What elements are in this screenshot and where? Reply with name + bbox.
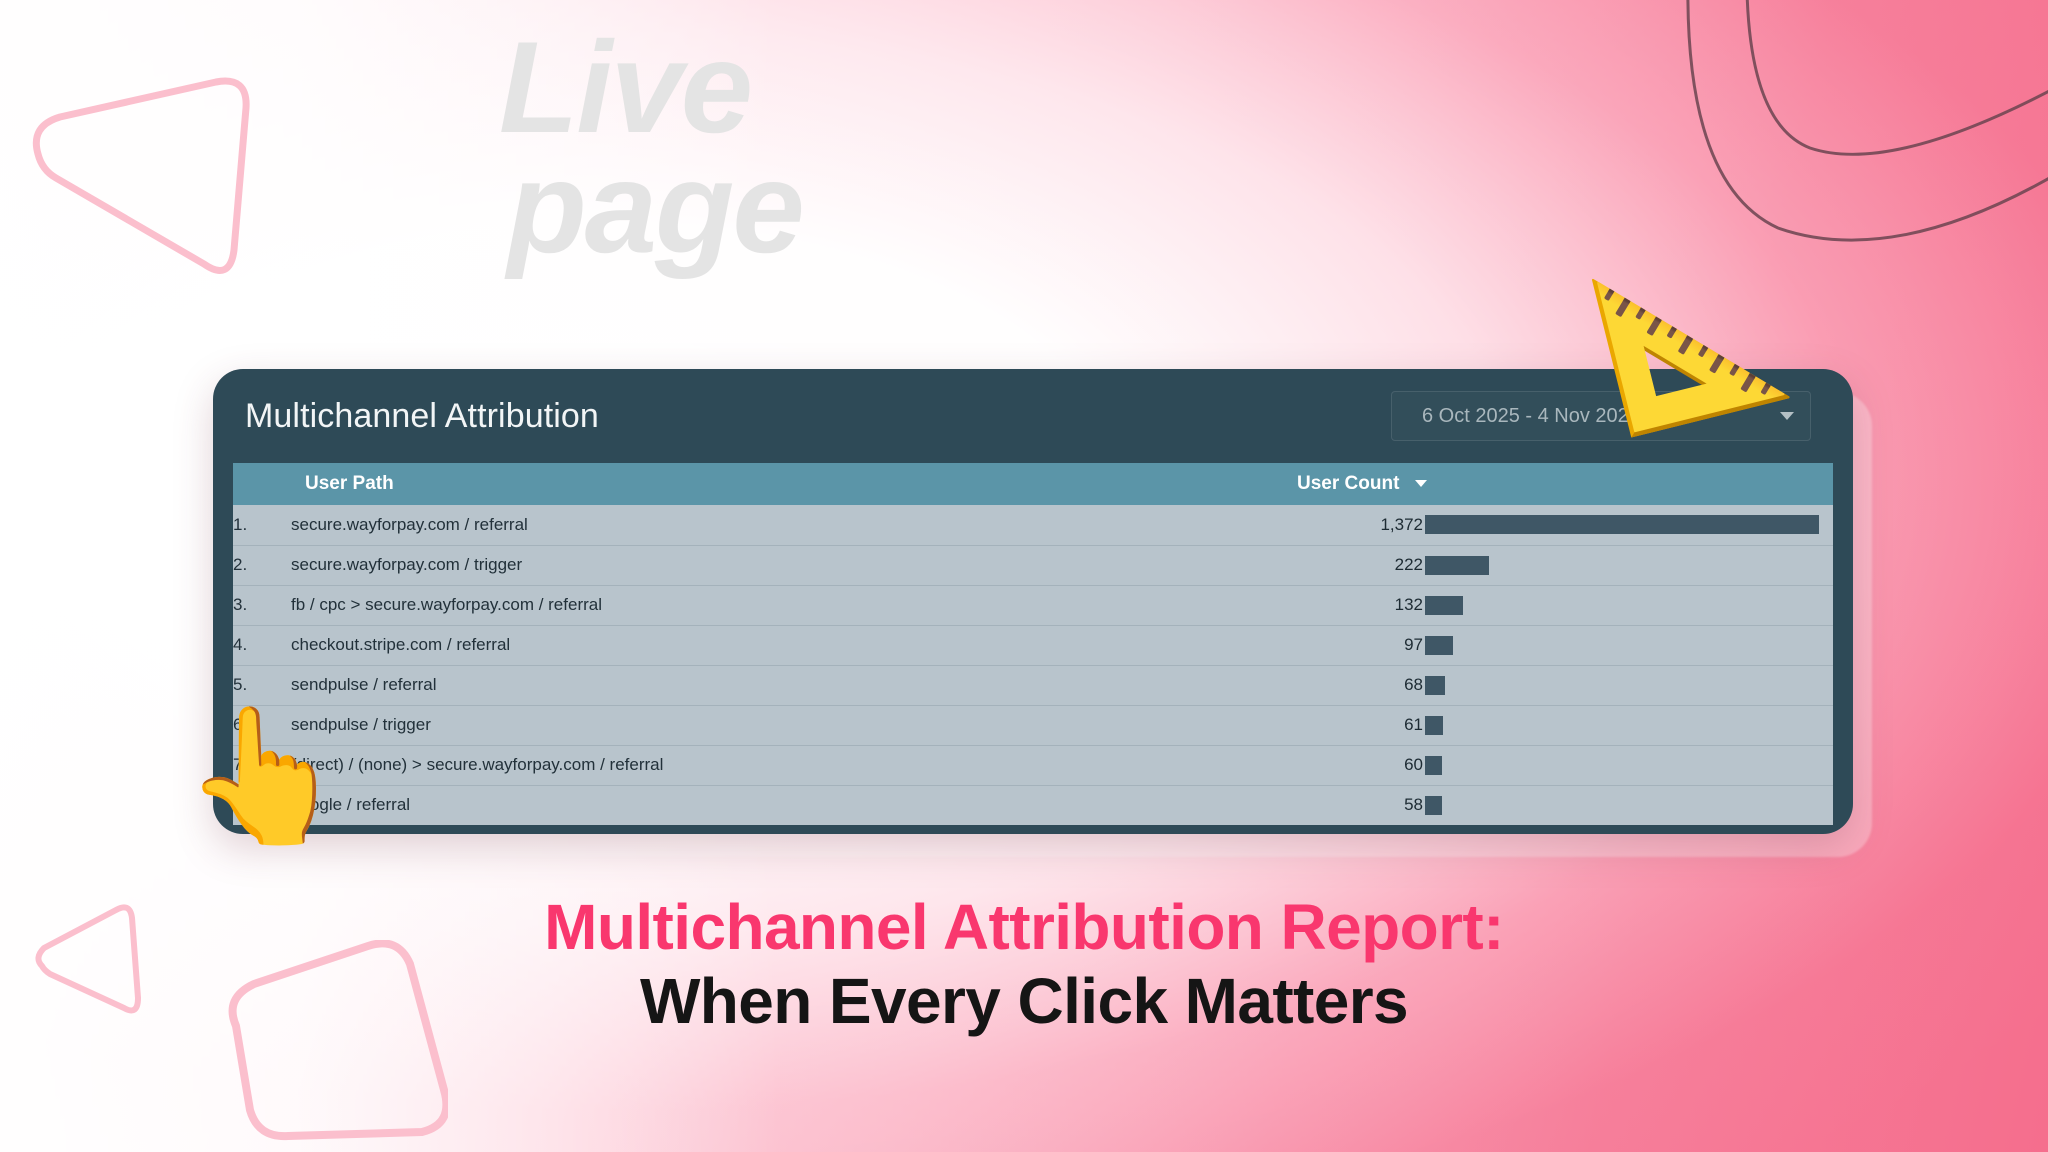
cell-rank: 5. [233, 665, 291, 705]
user-count-bar [1425, 716, 1443, 735]
attribution-table: User Path User Count 1.secure.wayforpay.… [233, 463, 1833, 825]
table-row[interactable]: 1.secure.wayforpay.com / referral1,372 [233, 505, 1833, 545]
cell-user-path: google / referral [291, 785, 1273, 825]
chevron-down-icon [1780, 412, 1794, 420]
user-count-value: 222 [1273, 555, 1425, 575]
cell-user-path: sendpulse / referral [291, 665, 1273, 705]
column-header-user-path[interactable]: User Path [291, 463, 1273, 505]
user-count-bar [1425, 676, 1445, 695]
user-count-value: 68 [1273, 675, 1425, 695]
cell-user-path: (direct) / (none) > secure.wayforpay.com… [291, 745, 1273, 785]
cell-user-count: 68 [1273, 665, 1833, 705]
user-count-bar [1425, 556, 1489, 575]
cell-user-path: checkout.stripe.com / referral [291, 625, 1273, 665]
watermark-line-2: page [0, 148, 1250, 268]
count-wrapper: 132 [1273, 595, 1833, 615]
headline-block: Multichannel Attribution Report: When Ev… [0, 890, 2048, 1038]
cell-user-count: 61 [1273, 705, 1833, 745]
cell-user-path: secure.wayforpay.com / trigger [291, 545, 1273, 585]
user-count-bar [1425, 515, 1819, 534]
table-row[interactable]: 4.checkout.stripe.com / referral97 [233, 625, 1833, 665]
user-count-value: 60 [1273, 755, 1425, 775]
headline-secondary: When Every Click Matters [0, 964, 2048, 1038]
cell-user-path: fb / cpc > secure.wayforpay.com / referr… [291, 585, 1273, 625]
count-wrapper: 97 [1273, 635, 1833, 655]
count-wrapper: 222 [1273, 555, 1833, 575]
column-header-rank [233, 463, 291, 505]
cell-rank: 4. [233, 625, 291, 665]
user-count-bar [1425, 796, 1442, 815]
user-count-value: 132 [1273, 595, 1425, 615]
user-count-value: 61 [1273, 715, 1425, 735]
column-header-user-count[interactable]: User Count [1273, 463, 1833, 505]
date-range-label: 6 Oct 2025 - 4 Nov 2025 [1422, 405, 1640, 428]
count-wrapper: 61 [1273, 715, 1833, 735]
multichannel-attribution-card: Multichannel Attribution 6 Oct 2025 - 4 … [213, 369, 1853, 834]
column-header-user-count-label: User Count [1297, 473, 1399, 494]
cell-user-count: 58 [1273, 785, 1833, 825]
table-row[interactable]: 2.secure.wayforpay.com / trigger222 [233, 545, 1833, 585]
cell-user-count: 97 [1273, 625, 1833, 665]
sort-descending-icon[interactable] [1415, 480, 1427, 487]
cell-rank: 7. [233, 745, 291, 785]
cell-user-count: 222 [1273, 545, 1833, 585]
table-header-row: User Path User Count [233, 463, 1833, 505]
table-row[interactable]: 8.google / referral58 [233, 785, 1833, 825]
cell-user-path: sendpulse / trigger [291, 705, 1273, 745]
cell-user-path: secure.wayforpay.com / referral [291, 505, 1273, 545]
count-wrapper: 68 [1273, 675, 1833, 695]
user-count-value: 97 [1273, 635, 1425, 655]
user-count-bar [1425, 636, 1453, 655]
cell-rank: 8. [233, 785, 291, 825]
user-count-value: 1,372 [1273, 515, 1425, 535]
table-row[interactable]: 7.(direct) / (none) > secure.wayforpay.c… [233, 745, 1833, 785]
table-row[interactable]: 5.sendpulse / referral68 [233, 665, 1833, 705]
card-title: Multichannel Attribution [245, 397, 599, 436]
cell-rank: 2. [233, 545, 291, 585]
user-count-value: 58 [1273, 795, 1425, 815]
date-range-picker[interactable]: 6 Oct 2025 - 4 Nov 2025 [1391, 391, 1811, 441]
user-count-bar [1425, 756, 1442, 775]
count-wrapper: 1,372 [1273, 515, 1833, 535]
table-row[interactable]: 6.sendpulse / trigger61 [233, 705, 1833, 745]
live-page-watermark: Live page [0, 28, 1250, 267]
cell-user-count: 60 [1273, 745, 1833, 785]
card-header: Multichannel Attribution 6 Oct 2025 - 4 … [213, 369, 1853, 463]
table-row[interactable]: 3.fb / cpc > secure.wayforpay.com / refe… [233, 585, 1833, 625]
count-wrapper: 58 [1273, 795, 1833, 815]
column-header-user-path-label: User Path [305, 473, 394, 494]
cell-rank: 1. [233, 505, 291, 545]
user-count-bar [1425, 596, 1463, 615]
cell-user-count: 132 [1273, 585, 1833, 625]
cell-user-count: 1,372 [1273, 505, 1833, 545]
cell-rank: 3. [233, 585, 291, 625]
table-head: User Path User Count [233, 463, 1833, 505]
cell-rank: 6. [233, 705, 291, 745]
table-body: 1.secure.wayforpay.com / referral1,3722.… [233, 505, 1833, 825]
count-wrapper: 60 [1273, 755, 1833, 775]
headline-primary: Multichannel Attribution Report: [0, 890, 2048, 964]
